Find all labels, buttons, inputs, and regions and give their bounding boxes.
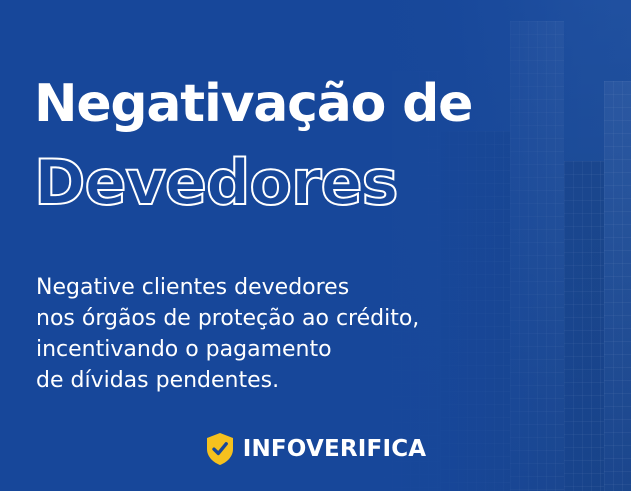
brand-name-part1: INFO xyxy=(243,436,306,462)
paragraph-line: nos órgãos de proteção ao crédito, xyxy=(36,303,419,334)
brand-name: INFOVERIFICA xyxy=(243,436,427,462)
paragraph-line: incentivando o pagamento xyxy=(36,334,419,365)
description-paragraph: Negative clientes devedores nos órgãos d… xyxy=(36,272,419,396)
promo-banner: Negativação de Devedores Negative client… xyxy=(0,0,631,491)
brand-name-part2: VERIFICA xyxy=(306,436,426,462)
shield-check-icon xyxy=(205,432,235,466)
paragraph-line: Negative clientes devedores xyxy=(36,272,419,303)
headline-primary: Negativação de xyxy=(34,78,472,130)
brand-logo: INFOVERIFICA xyxy=(0,432,631,466)
paragraph-line: de dívidas pendentes. xyxy=(36,365,419,396)
banner-content: Negativação de Devedores Negative client… xyxy=(0,0,631,491)
headline-outline: Devedores xyxy=(34,152,397,214)
